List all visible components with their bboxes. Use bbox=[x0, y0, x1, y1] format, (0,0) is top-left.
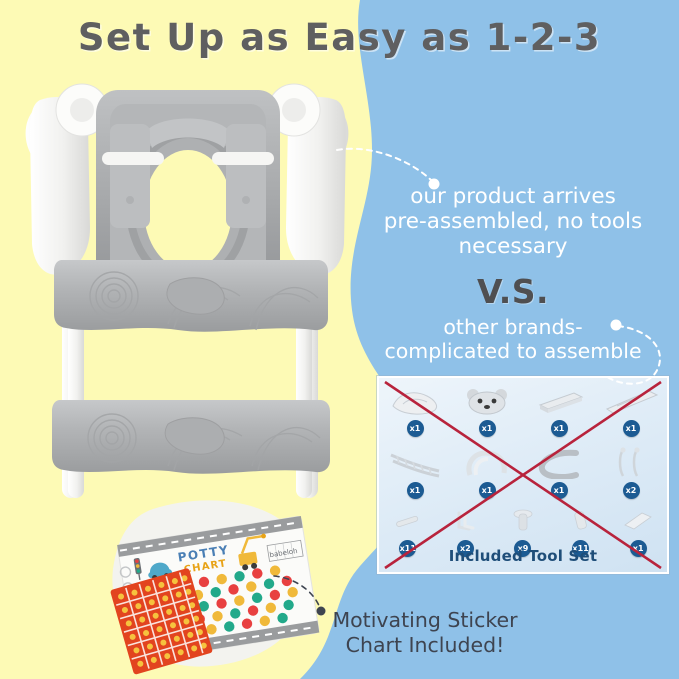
qty-badge: x1 bbox=[551, 482, 568, 499]
callout-ours-line2: pre-assembled, no tools bbox=[358, 210, 668, 235]
qty-badge: x1 bbox=[479, 420, 496, 437]
spacer-icon bbox=[567, 504, 595, 538]
callout-others: other brands- complicated to assemble bbox=[350, 316, 676, 364]
included-tool-set-panel: x1 x1 bbox=[377, 376, 669, 574]
tool-part: x1 bbox=[529, 446, 589, 499]
tool-part: x2 bbox=[601, 446, 661, 499]
side-panel-icon bbox=[603, 384, 659, 418]
qty-badge: x1 bbox=[407, 482, 424, 499]
callout-sticker-line2: Chart Included! bbox=[300, 633, 550, 658]
long-rod-icon bbox=[611, 446, 651, 480]
screw-small-icon bbox=[392, 504, 424, 538]
callout-others-line2: complicated to assemble bbox=[350, 340, 676, 364]
versus-label: V.S. bbox=[358, 272, 668, 311]
callout-ours-line3: necessary bbox=[358, 235, 668, 260]
seat-ring-icon bbox=[532, 446, 586, 480]
page-title: Set Up as Easy as 1-2-3 bbox=[0, 16, 679, 59]
callout-ours-line1: our product arrives bbox=[358, 185, 668, 210]
ladder-frame-icon bbox=[387, 446, 443, 480]
hinge-arm-icon bbox=[460, 446, 514, 480]
product-image bbox=[18, 78, 358, 498]
infographic-canvas: Set Up as Easy as 1-2-3 bbox=[0, 0, 679, 679]
tool-row: x1 x1 bbox=[379, 384, 667, 437]
seat-base-bracket-icon bbox=[389, 384, 441, 418]
tool-part: x1 bbox=[457, 446, 517, 499]
tool-part: x1 bbox=[457, 384, 517, 437]
tool-part: x1 bbox=[529, 384, 589, 437]
qty-badge: x1 bbox=[623, 420, 640, 437]
bolt-icon bbox=[508, 504, 538, 538]
qty-badge: x2 bbox=[623, 482, 640, 499]
callout-ours: our product arrives pre-assembled, no to… bbox=[358, 185, 668, 260]
tool-row: x1 x1 bbox=[379, 446, 667, 499]
qty-badge: x1 bbox=[479, 482, 496, 499]
callout-others-line1: other brands- bbox=[350, 316, 676, 340]
qty-badge: x1 bbox=[551, 420, 568, 437]
tool-part: x1 bbox=[385, 384, 445, 437]
tool-parts-grid: x1 x1 bbox=[379, 378, 667, 572]
bear-face-cover-icon bbox=[463, 384, 511, 418]
tool-part: x1 bbox=[601, 384, 661, 437]
cap-plate-icon bbox=[620, 504, 656, 538]
step-pad-icon bbox=[532, 384, 586, 418]
qty-badge: x1 bbox=[407, 420, 424, 437]
callout-sticker-chart: Motivating Sticker Chart Included! bbox=[300, 608, 550, 657]
tool-panel-title: Included Tool Set bbox=[379, 547, 667, 565]
hex-key-icon bbox=[449, 504, 481, 538]
callout-sticker-line1: Motivating Sticker bbox=[300, 608, 550, 633]
tool-part: x1 bbox=[385, 446, 445, 499]
